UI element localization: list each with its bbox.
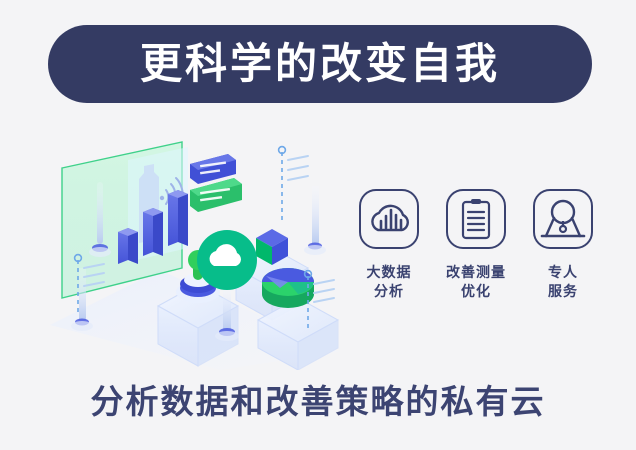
feature-item-measurement-optimization[interactable]: 改善测量 优化	[439, 188, 513, 338]
illustration-svg	[40, 120, 340, 370]
page-title: 更科学的改变自我	[140, 43, 500, 85]
speed-lines-top	[288, 156, 308, 180]
feature-label-line2: 分析	[367, 283, 412, 302]
feature-label-dedicated-service: 专人 服务	[548, 264, 578, 302]
feature-label-line1: 大数据	[367, 264, 412, 283]
cloud-bar-chart-icon	[358, 188, 420, 250]
promo-poster: 更科学的改变自我	[0, 0, 636, 450]
feature-label-line1: 专人	[548, 264, 578, 283]
support-agent-icon	[532, 188, 594, 250]
gradient-pole-right	[304, 186, 326, 255]
speed-lines-right	[314, 280, 334, 302]
feature-label-line1: 改善测量	[446, 264, 506, 283]
feature-item-big-data-analysis[interactable]: 大数据 分析	[352, 188, 426, 338]
tagline: 分析数据和改善策略的私有云	[0, 382, 636, 422]
feature-label-measurement-optimization: 改善测量 优化	[446, 264, 506, 302]
clipboard-icon	[445, 188, 507, 250]
feature-label-big-data-analysis: 大数据 分析	[367, 264, 412, 302]
pie-chart-3d	[262, 268, 314, 308]
feature-list: 大数据 分析 改善测量	[352, 188, 600, 338]
feature-item-dedicated-service[interactable]: 专人 服务	[526, 188, 600, 338]
header-pill: 更科学的改变自我	[48, 25, 592, 103]
feature-label-line2: 服务	[548, 283, 578, 302]
isometric-data-platform-illustration	[40, 120, 340, 370]
feature-label-line2: 优化	[446, 283, 506, 302]
